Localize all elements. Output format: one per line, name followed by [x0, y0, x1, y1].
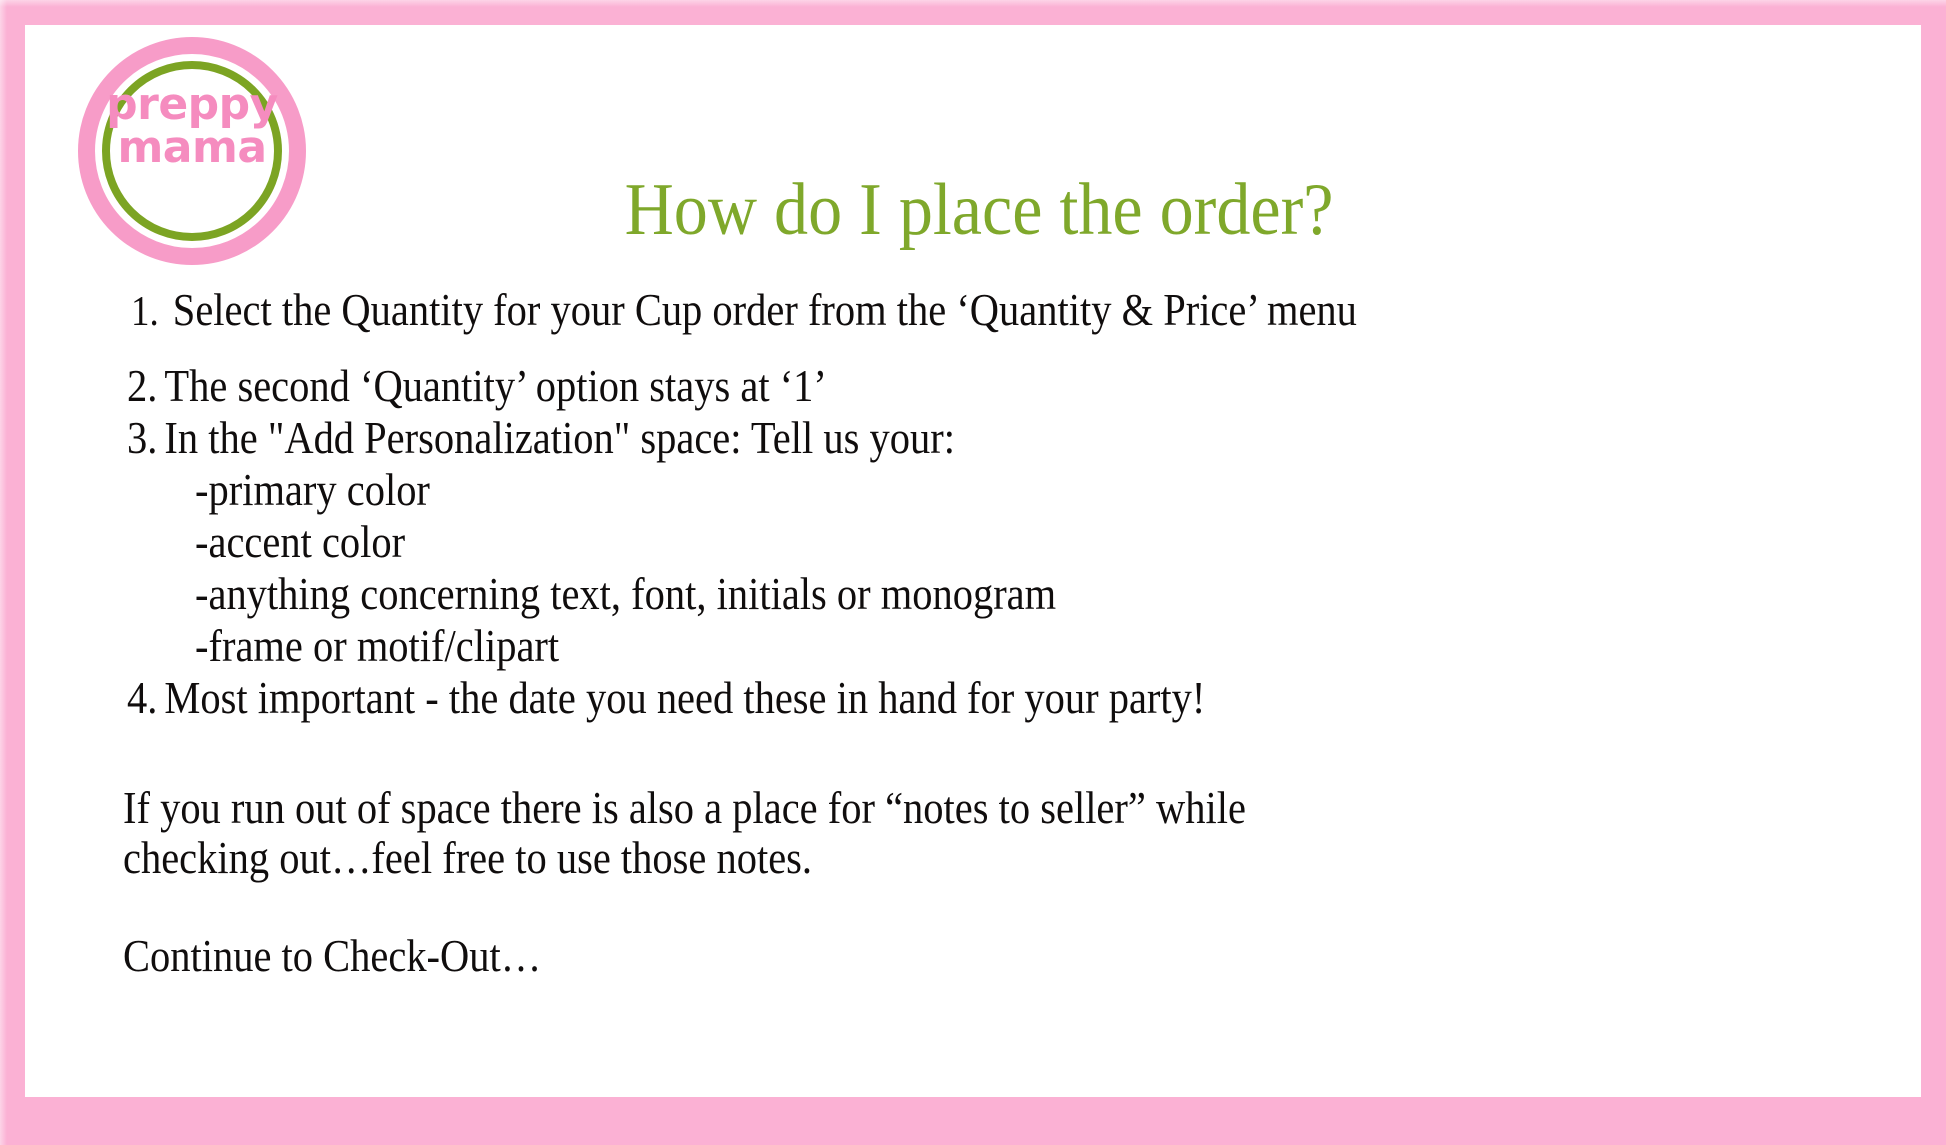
list-item-4-number: 4. — [127, 672, 157, 723]
spacer-before-closing — [95, 885, 1895, 933]
notes-paragraph-line1: If you run out of space there is also a … — [123, 785, 1682, 831]
notes-paragraph: If you run out of space there is also a … — [123, 785, 1895, 881]
logo-text-line2: mama — [78, 126, 306, 169]
slide-frame: preppy mama How do I place the order? 1.… — [0, 0, 1946, 1145]
list-item-1: 1.Select the Quantity for your Cup order… — [131, 287, 1895, 333]
sub-item-primary-color-text: -primary color — [195, 467, 1691, 513]
instructions-body: 1.Select the Quantity for your Cup order… — [95, 287, 1895, 979]
sub-item-text-font-text: -anything concerning text, font, initial… — [195, 571, 1691, 617]
list-item-1-number: 1. — [131, 289, 159, 335]
list-item-1-text: Select the Quantity for your Cup order f… — [173, 284, 1357, 335]
closing-line: Continue to Check-Out… — [123, 933, 1895, 979]
list-item-3: 3.In the "Add Personalization" space: Te… — [127, 415, 1895, 461]
list-item-3-number: 3. — [127, 412, 157, 463]
list-item-3-line: 3.In the "Add Personalization" space: Te… — [127, 415, 1683, 461]
logo-text: preppy mama — [78, 83, 306, 169]
sub-item-text-font: -anything concerning text, font, initial… — [195, 571, 1895, 617]
sub-item-frame-motif-text: -frame or motif/clipart — [195, 623, 1691, 669]
list-item-4-text: Most important - the date you need these… — [164, 672, 1205, 723]
list-item-2: 2.The second ‘Quantity’ option stays at … — [127, 363, 1895, 409]
notes-paragraph-line2: checking out…feel free to use those note… — [123, 835, 1682, 881]
sub-item-primary-color: -primary color — [195, 467, 1895, 513]
slide-card: preppy mama How do I place the order? 1.… — [25, 25, 1921, 1097]
list-item-3-text: In the "Add Personalization" space: Tell… — [164, 412, 955, 463]
list-item-4: 4.Most important - the date you need the… — [127, 675, 1895, 721]
list-item-4-line: 4.Most important - the date you need the… — [127, 675, 1683, 721]
sub-item-frame-motif: -frame or motif/clipart — [195, 623, 1895, 669]
sub-item-accent-color-text: -accent color — [195, 519, 1691, 565]
spacer-before-paragraph — [95, 727, 1895, 785]
closing-line-text: Continue to Check-Out… — [123, 933, 1682, 979]
page-title: How do I place the order? — [107, 173, 1851, 247]
sub-item-accent-color: -accent color — [195, 519, 1895, 565]
list-item-2-text: The second ‘Quantity’ option stays at ‘1… — [164, 360, 827, 411]
list-item-2-number: 2. — [127, 360, 157, 411]
list-item-2-line: 2.The second ‘Quantity’ option stays at … — [127, 363, 1683, 409]
list-item-1-line: 1.Select the Quantity for your Cup order… — [131, 287, 1683, 333]
